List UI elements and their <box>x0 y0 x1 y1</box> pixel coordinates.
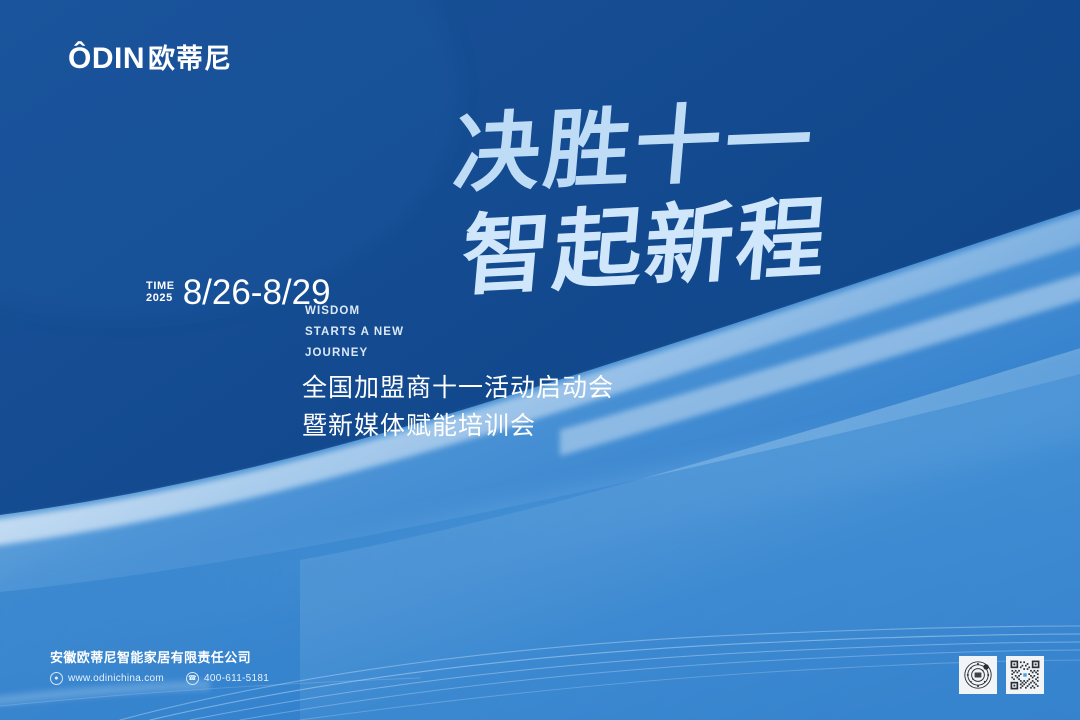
phone-item[interactable]: ☎ 400-611-5181 <box>186 672 269 685</box>
headline-line-2: 智起新程 <box>458 189 916 300</box>
tagline-line-3: JOURNEY <box>305 343 404 364</box>
time-label: TIME 2025 <box>146 281 175 310</box>
wechat-official-qr[interactable] <box>959 656 997 694</box>
globe-icon: ● <box>50 672 63 685</box>
event-date: TIME 2025 8/26-8/29 <box>146 276 331 310</box>
event-subtitle: 全国加盟商十一活动启动会 暨新媒体赋能培训会 <box>302 369 614 445</box>
company-name: 安徽欧蒂尼智能家居有限责任公司 <box>50 647 269 666</box>
headline: 决胜十一 智起新程 <box>440 112 910 342</box>
qr-code-group <box>959 656 1044 694</box>
tagline-line-2: STARTS A NEW <box>305 322 404 343</box>
phone-text: 400-611-5181 <box>204 673 269 684</box>
brand-logo-chinese: 欧蒂尼 <box>148 46 232 73</box>
subtitle-line-1: 全国加盟商十一活动启动会 <box>302 369 614 407</box>
website-item[interactable]: ● www.odinichina.com <box>50 672 164 685</box>
website-text: www.odinichina.com <box>68 673 164 684</box>
brand-logo: ÔDIN 欧蒂尼 <box>68 44 232 74</box>
contact-row: ● www.odinichina.com ☎ 400-611-5181 <box>50 672 269 685</box>
headline-line-1: 决胜十一 <box>450 95 915 198</box>
footer: 安徽欧蒂尼智能家居有限责任公司 ● www.odinichina.com ☎ 4… <box>50 647 269 685</box>
english-tagline: WISDOM STARTS A NEW JOURNEY <box>305 301 404 364</box>
time-label-top: TIME <box>146 281 175 293</box>
brand-logo-latin: ÔDIN <box>68 44 145 74</box>
wechat-mini-program-qr[interactable] <box>1006 656 1044 694</box>
phone-icon: ☎ <box>186 672 199 685</box>
subtitle-line-2: 暨新媒体赋能培训会 <box>302 407 614 445</box>
event-poster: ÔDIN 欧蒂尼 决胜十一 智起新程 TIME 2025 8/26-8/29 W… <box>0 0 1080 720</box>
time-label-year: 2025 <box>146 293 175 305</box>
tagline-line-1: WISDOM <box>305 301 404 322</box>
